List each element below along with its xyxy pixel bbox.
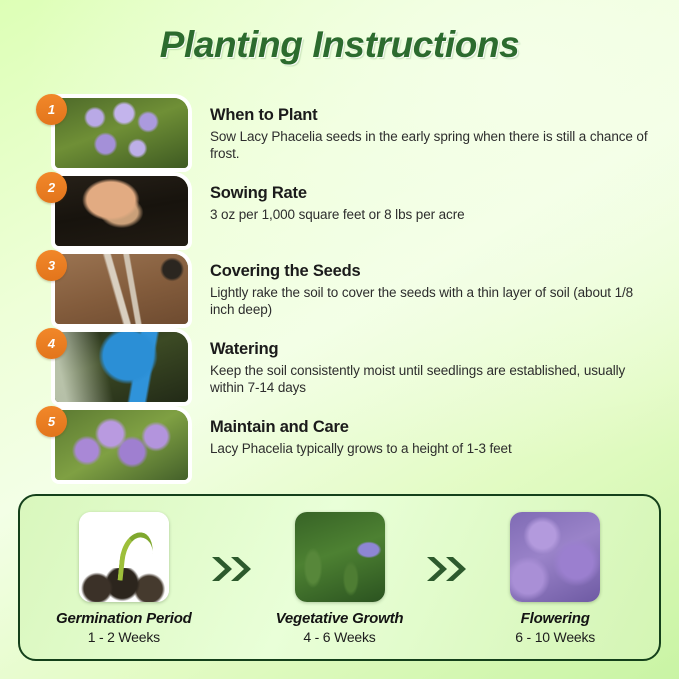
watering-can-photo — [55, 332, 188, 402]
planting-instructions-infographic: Planting Instructions 1 When to Plant So… — [0, 0, 679, 679]
step-number-badge: 5 — [36, 406, 67, 437]
stage-label: Germination Period — [42, 610, 206, 627]
step-number-badge: 1 — [36, 94, 67, 125]
step-title: Watering — [210, 340, 660, 359]
stage-duration: 4 - 6 Weeks — [258, 629, 422, 645]
double-chevron-right-icon — [206, 512, 258, 584]
timeline-stage: Vegetative Growth 4 - 6 Weeks — [258, 512, 422, 645]
step-title: Maintain and Care — [210, 418, 660, 437]
step-title: Covering the Seeds — [210, 262, 660, 281]
step-image-card — [55, 98, 188, 168]
rake-on-soil-photo — [55, 254, 188, 324]
step-description: Keep the soil consistently moist until s… — [210, 362, 660, 396]
stage-image-card — [510, 512, 600, 602]
step-description: 3 oz per 1,000 square feet or 8 lbs per … — [210, 206, 660, 223]
timeline-stage: Flowering 6 - 10 Weeks — [473, 512, 637, 645]
stage-label: Vegetative Growth — [258, 610, 422, 627]
step-text-block: Maintain and Care Lacy Phacelia typicall… — [210, 418, 660, 457]
growth-timeline-panel: Germination Period 1 - 2 Weeks Vegetativ… — [18, 494, 661, 661]
steps-list: 1 When to Plant Sow Lacy Phacelia seeds … — [0, 98, 679, 488]
step-item: 2 Sowing Rate 3 oz per 1,000 square feet… — [0, 176, 679, 254]
seed-sprout-photo — [79, 512, 169, 602]
double-chevron-right-icon — [421, 512, 473, 584]
step-text-block: Sowing Rate 3 oz per 1,000 square feet o… — [210, 184, 660, 223]
step-number-badge: 4 — [36, 328, 67, 359]
step-description: Lightly rake the soil to cover the seeds… — [210, 284, 660, 318]
page-title: Planting Instructions — [0, 24, 679, 66]
step-image-card — [55, 254, 188, 324]
step-item: 4 Watering Keep the soil consistently mo… — [0, 332, 679, 410]
stage-image-card — [79, 512, 169, 602]
phacelia-closeup-photo — [55, 410, 188, 480]
step-title: When to Plant — [210, 106, 660, 125]
stage-duration: 1 - 2 Weeks — [42, 629, 206, 645]
stage-label: Flowering — [473, 610, 637, 627]
green-foliage-photo — [295, 512, 385, 602]
step-text-block: When to Plant Sow Lacy Phacelia seeds in… — [210, 106, 660, 162]
step-number-badge: 3 — [36, 250, 67, 281]
step-text-block: Covering the Seeds Lightly rake the soil… — [210, 262, 660, 318]
step-image-card — [55, 410, 188, 480]
stage-duration: 6 - 10 Weeks — [473, 629, 637, 645]
purple-flowers-photo — [510, 512, 600, 602]
step-image-card — [55, 332, 188, 402]
stage-image-card — [295, 512, 385, 602]
step-item: 1 When to Plant Sow Lacy Phacelia seeds … — [0, 98, 679, 176]
step-image-card — [55, 176, 188, 246]
step-description: Lacy Phacelia typically grows to a heigh… — [210, 440, 660, 457]
phacelia-field-photo — [55, 98, 188, 168]
step-text-block: Watering Keep the soil consistently mois… — [210, 340, 660, 396]
hand-sowing-seeds-photo — [55, 176, 188, 246]
step-title: Sowing Rate — [210, 184, 660, 203]
step-item: 3 Covering the Seeds Lightly rake the so… — [0, 254, 679, 332]
timeline-stage: Germination Period 1 - 2 Weeks — [42, 512, 206, 645]
step-item: 5 Maintain and Care Lacy Phacelia typica… — [0, 410, 679, 488]
step-description: Sow Lacy Phacelia seeds in the early spr… — [210, 128, 660, 162]
step-number-badge: 2 — [36, 172, 67, 203]
